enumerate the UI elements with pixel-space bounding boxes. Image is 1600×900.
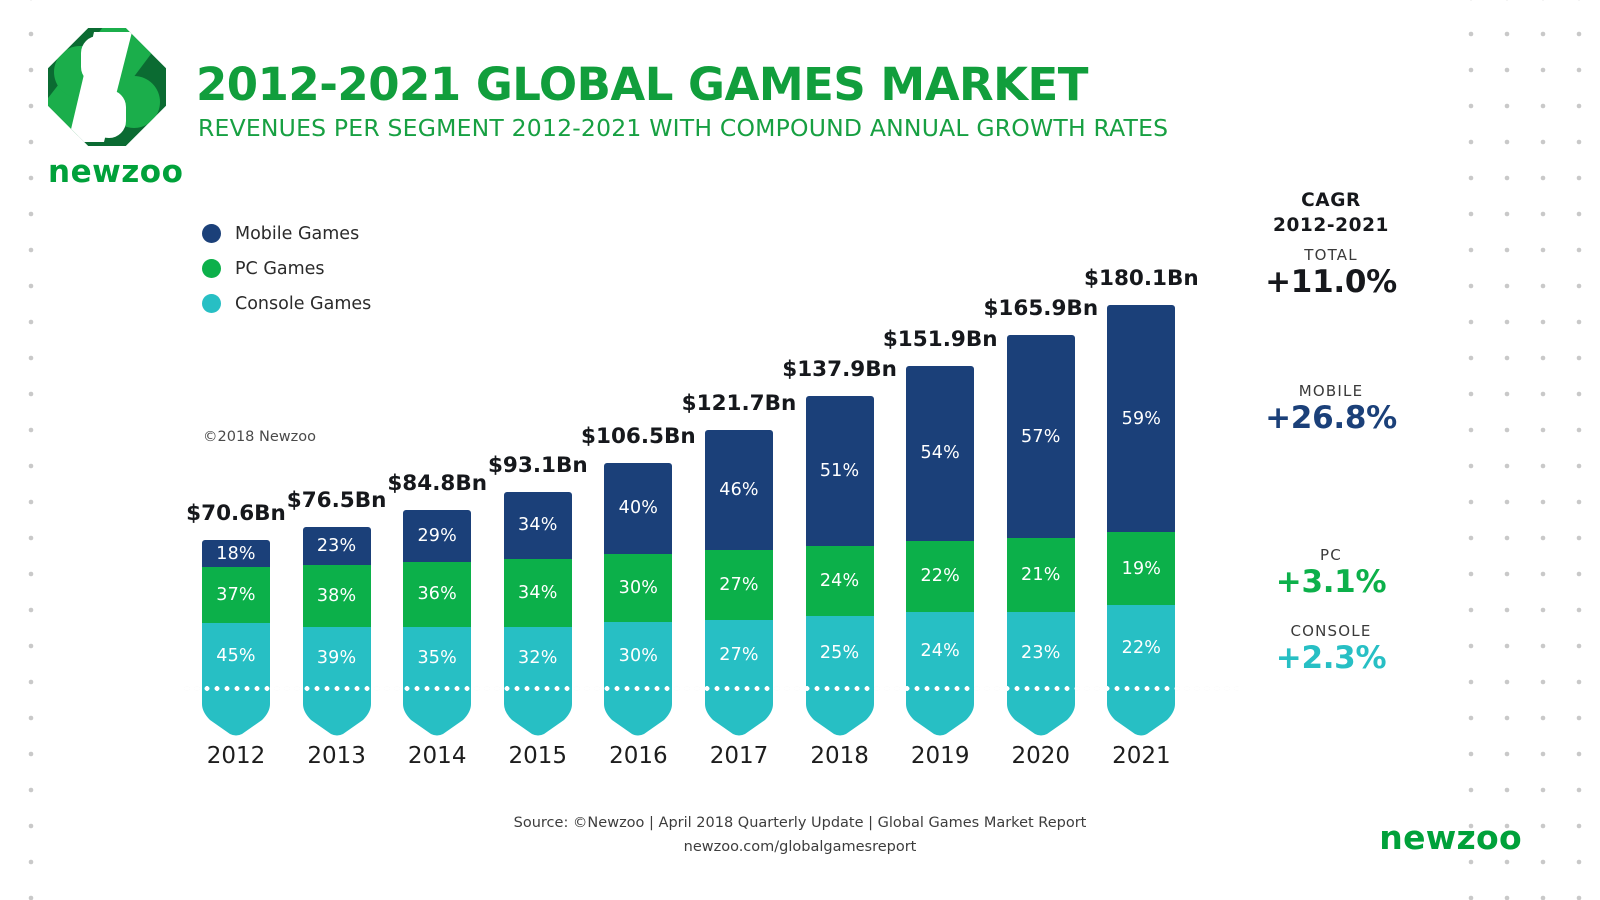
bar-segment-2015-console-games[interactable]: 32% bbox=[504, 627, 572, 690]
cagr-total-label: TOTAL bbox=[1246, 246, 1416, 264]
bar-segment-2013-console-games[interactable]: 39% bbox=[303, 627, 371, 690]
bar-tip-2013 bbox=[303, 690, 371, 736]
bar-segment-2013-mobile-games[interactable]: 23% bbox=[303, 527, 371, 564]
bar-segment-2020-console-games[interactable]: 23% bbox=[1007, 612, 1075, 694]
cagr-heading-line2: 2012-2021 bbox=[1246, 215, 1416, 236]
cagr-mobile-value: +26.8% bbox=[1246, 400, 1416, 436]
bar-total-label-2018: $137.9Bn bbox=[782, 357, 897, 382]
x-axis-label-2018: 2018 bbox=[810, 743, 869, 769]
bar-tip-2017 bbox=[705, 690, 773, 736]
cagr-console: CONSOLE +2.3% bbox=[1246, 622, 1416, 676]
bar-segment-2021-pc-games[interactable]: 19% bbox=[1107, 532, 1175, 605]
bar-tip-2020 bbox=[1007, 690, 1075, 736]
segment-percent-label: 18% bbox=[216, 544, 256, 564]
bar-segment-2016-pc-games[interactable]: 30% bbox=[604, 554, 672, 622]
segment-percent-label: 23% bbox=[317, 536, 357, 556]
cagr-pc: PC +3.1% bbox=[1246, 546, 1416, 600]
segment-percent-label: 34% bbox=[518, 515, 558, 535]
segment-percent-label: 24% bbox=[820, 571, 860, 591]
segment-percent-label: 46% bbox=[719, 480, 759, 500]
bar-stack-2019: 54%22%24% bbox=[906, 366, 974, 690]
bar-segment-2014-console-games[interactable]: 35% bbox=[403, 627, 471, 690]
newzoo-wordmark: newzoo bbox=[48, 154, 178, 190]
segment-percent-label: 22% bbox=[1122, 638, 1162, 658]
segment-percent-label: 24% bbox=[920, 641, 960, 661]
segment-percent-label: 27% bbox=[719, 575, 759, 595]
segment-percent-label: 39% bbox=[317, 648, 357, 668]
bar-segment-2021-mobile-games[interactable]: 59% bbox=[1107, 305, 1175, 532]
segment-percent-label: 36% bbox=[417, 584, 457, 604]
segment-percent-label: 40% bbox=[619, 498, 659, 518]
bar-tip-2012 bbox=[202, 690, 270, 736]
bar-column-2013[interactable]: $76.5Bn23%38%39%2013 bbox=[303, 527, 371, 690]
bar-stack-2015: 34%34%32% bbox=[504, 492, 572, 690]
bar-total-label-2020: $165.9Bn bbox=[983, 296, 1098, 321]
bar-segment-2017-mobile-games[interactable]: 46% bbox=[705, 430, 773, 549]
segment-percent-label: 30% bbox=[619, 646, 659, 666]
cagr-console-label: CONSOLE bbox=[1246, 622, 1416, 640]
cagr-console-value: +2.3% bbox=[1246, 640, 1416, 676]
segment-percent-label: 29% bbox=[417, 526, 457, 546]
stacked-bar-chart: $70.6Bn18%37%45%2012$76.5Bn23%38%39%2013… bbox=[186, 250, 1221, 690]
bar-total-label-2019: $151.9Bn bbox=[883, 327, 998, 352]
segment-percent-label: 22% bbox=[920, 566, 960, 586]
bar-column-2016[interactable]: $106.5Bn40%30%30%2016 bbox=[604, 463, 672, 690]
newzoo-diamond-icon bbox=[48, 28, 166, 146]
source-url[interactable]: newzoo.com/globalgamesreport bbox=[0, 839, 1600, 855]
bar-segment-2015-pc-games[interactable]: 34% bbox=[504, 559, 572, 626]
bar-total-label-2021: $180.1Bn bbox=[1084, 266, 1199, 291]
segment-percent-label: 45% bbox=[216, 646, 256, 666]
cagr-total-value: +11.0% bbox=[1246, 264, 1416, 300]
bar-total-label-2014: $84.8Bn bbox=[387, 471, 487, 496]
segment-percent-label: 23% bbox=[1021, 643, 1061, 663]
bar-column-2015[interactable]: $93.1Bn34%34%32%2015 bbox=[504, 492, 572, 690]
bar-column-2012[interactable]: $70.6Bn18%37%45%2012 bbox=[202, 540, 270, 690]
bar-segment-2013-pc-games[interactable]: 38% bbox=[303, 565, 371, 627]
legend-dot-mobile-icon bbox=[202, 224, 221, 243]
bar-stack-2014: 29%36%35% bbox=[403, 510, 471, 690]
bar-segment-2016-console-games[interactable]: 30% bbox=[604, 622, 672, 690]
x-axis-label-2012: 2012 bbox=[207, 743, 266, 769]
bar-segment-2019-pc-games[interactable]: 22% bbox=[906, 541, 974, 612]
bar-column-2018[interactable]: $137.9Bn51%24%25%2018 bbox=[806, 396, 874, 690]
segment-percent-label: 30% bbox=[619, 578, 659, 598]
page-title: 2012-2021 GLOBAL GAMES MARKET bbox=[196, 58, 1088, 111]
x-axis-label-2016: 2016 bbox=[609, 743, 668, 769]
segment-percent-label: 51% bbox=[820, 461, 860, 481]
bar-segment-2014-mobile-games[interactable]: 29% bbox=[403, 510, 471, 562]
bar-segment-2021-console-games[interactable]: 22% bbox=[1107, 605, 1175, 690]
segment-percent-label: 37% bbox=[216, 585, 256, 605]
source-note: Source: ©Newzoo | April 2018 Quarterly U… bbox=[0, 815, 1600, 831]
newzoo-logo-block: newzoo bbox=[48, 28, 178, 190]
bar-segment-2012-mobile-games[interactable]: 18% bbox=[202, 540, 270, 567]
segment-percent-label: 38% bbox=[317, 586, 357, 606]
segment-percent-label: 21% bbox=[1021, 565, 1061, 585]
bar-segment-2012-pc-games[interactable]: 37% bbox=[202, 567, 270, 623]
segment-percent-label: 25% bbox=[820, 643, 860, 663]
bar-segment-2017-pc-games[interactable]: 27% bbox=[705, 550, 773, 620]
segment-percent-label: 54% bbox=[920, 443, 960, 463]
bar-tip-2014 bbox=[403, 690, 471, 736]
bar-tip-2016 bbox=[604, 690, 672, 736]
infographic-stage: newzoo 2012-2021 GLOBAL GAMES MARKET REV… bbox=[0, 0, 1600, 900]
cagr-total: TOTAL +11.0% bbox=[1246, 246, 1416, 300]
bar-tip-2019 bbox=[906, 690, 974, 736]
bar-total-label-2017: $121.7Bn bbox=[682, 391, 797, 416]
cagr-mobile-label: MOBILE bbox=[1246, 382, 1416, 400]
bar-tip-2015 bbox=[504, 690, 572, 736]
legend-label-mobile: Mobile Games bbox=[235, 224, 359, 244]
bar-total-label-2012: $70.6Bn bbox=[186, 501, 286, 526]
bar-segment-2014-pc-games[interactable]: 36% bbox=[403, 562, 471, 627]
x-axis-label-2019: 2019 bbox=[911, 743, 970, 769]
segment-percent-label: 57% bbox=[1021, 427, 1061, 447]
bar-total-label-2015: $93.1Bn bbox=[488, 453, 588, 478]
bar-column-2014[interactable]: $84.8Bn29%36%35%2014 bbox=[403, 510, 471, 690]
bar-segment-2012-console-games[interactable]: 45% bbox=[202, 623, 270, 691]
bar-segment-2019-console-games[interactable]: 24% bbox=[906, 612, 974, 690]
x-axis-label-2021: 2021 bbox=[1112, 743, 1171, 769]
cagr-heading-line1: CAGR bbox=[1246, 190, 1416, 211]
x-axis-label-2014: 2014 bbox=[408, 743, 467, 769]
bar-segment-2020-mobile-games[interactable]: 57% bbox=[1007, 335, 1075, 537]
footer-newzoo-logo: newzoo bbox=[1379, 818, 1522, 857]
bar-tip-2021 bbox=[1107, 690, 1175, 736]
x-axis-label-2017: 2017 bbox=[710, 743, 769, 769]
bar-total-label-2013: $76.5Bn bbox=[287, 488, 387, 513]
bar-stack-2021: 59%19%22% bbox=[1107, 305, 1175, 690]
cagr-mobile: MOBILE +26.8% bbox=[1246, 382, 1416, 436]
bar-stack-2020: 57%21%23% bbox=[1007, 335, 1075, 690]
bar-stack-2013: 23%38%39% bbox=[303, 527, 371, 690]
bar-stack-2017: 46%27%27% bbox=[705, 430, 773, 690]
axis-baseline-dotted bbox=[182, 686, 1239, 691]
bar-segment-2016-mobile-games[interactable]: 40% bbox=[604, 463, 672, 554]
cagr-pc-label: PC bbox=[1246, 546, 1416, 564]
segment-percent-label: 35% bbox=[417, 648, 457, 668]
cagr-pc-value: +3.1% bbox=[1246, 564, 1416, 600]
page-subtitle: REVENUES PER SEGMENT 2012-2021 WITH COMP… bbox=[198, 114, 1168, 142]
bar-stack-2018: 51%24%25% bbox=[806, 396, 874, 690]
cagr-panel: CAGR 2012-2021 TOTAL +11.0% MOBILE +26.8… bbox=[1246, 190, 1416, 236]
bar-segment-2019-mobile-games[interactable]: 54% bbox=[906, 366, 974, 541]
segment-percent-label: 32% bbox=[518, 648, 558, 668]
x-axis-label-2015: 2015 bbox=[509, 743, 568, 769]
x-axis-label-2013: 2013 bbox=[307, 743, 366, 769]
bar-column-2017[interactable]: $121.7Bn46%27%27%2017 bbox=[705, 430, 773, 690]
bar-column-2021[interactable]: $180.1Bn59%19%22%2021 bbox=[1107, 305, 1175, 690]
legend-item-mobile: Mobile Games bbox=[202, 216, 371, 251]
bar-stack-2012: 18%37%45% bbox=[202, 540, 270, 690]
x-axis-label-2020: 2020 bbox=[1012, 743, 1071, 769]
segment-percent-label: 27% bbox=[719, 645, 759, 665]
segment-percent-label: 19% bbox=[1122, 559, 1162, 579]
bar-segment-2018-mobile-games[interactable]: 51% bbox=[806, 396, 874, 546]
segment-percent-label: 34% bbox=[518, 583, 558, 603]
bar-column-2019[interactable]: $151.9Bn54%22%24%2019 bbox=[906, 366, 974, 690]
bar-segment-2018-pc-games[interactable]: 24% bbox=[806, 546, 874, 617]
bar-total-label-2016: $106.5Bn bbox=[581, 424, 696, 449]
bar-segment-2018-console-games[interactable]: 25% bbox=[806, 616, 874, 690]
bar-stack-2016: 40%30%30% bbox=[604, 463, 672, 690]
bar-segment-2020-pc-games[interactable]: 21% bbox=[1007, 538, 1075, 612]
bar-tip-2018 bbox=[806, 690, 874, 736]
bar-column-2020[interactable]: $165.9Bn57%21%23%2020 bbox=[1007, 335, 1075, 690]
bar-segment-2015-mobile-games[interactable]: 34% bbox=[504, 492, 572, 559]
segment-percent-label: 59% bbox=[1122, 409, 1162, 429]
bar-segment-2017-console-games[interactable]: 27% bbox=[705, 620, 773, 690]
